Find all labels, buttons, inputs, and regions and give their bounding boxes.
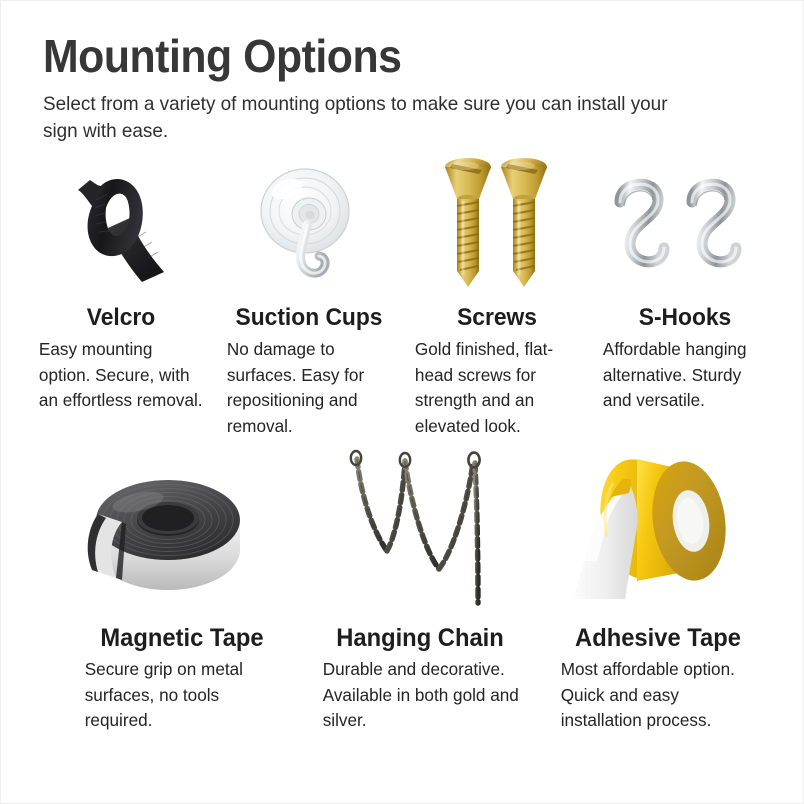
option-card-hanging-chain: Hanging Chain Durable and decorative. Av… — [301, 449, 539, 734]
s-hooks-icon — [610, 164, 760, 289]
option-description: Gold finished, flat-head screws for stre… — [411, 337, 580, 439]
mounting-options-infographic: Mounting Options Select from a variety o… — [0, 0, 804, 804]
magnetic-tape-roll-icon — [82, 454, 282, 604]
option-description: Affordable hanging alternative. Sturdy a… — [599, 337, 768, 414]
option-description: Durable and decorative. Available in bot… — [309, 657, 527, 734]
option-description: No damage to surfaces. Easy for repositi… — [223, 337, 392, 439]
option-title: Hanging Chain — [315, 623, 526, 653]
option-card-magnetic-tape: Magnetic Tape Secure grip on metal surfa… — [63, 449, 301, 734]
velcro-strap-icon — [46, 162, 196, 290]
option-card-screws: Screws Gold finished, flat-head screws f… — [403, 161, 591, 439]
magnetic-tape-media — [71, 449, 293, 609]
page-subtitle: Select from a variety of mounting option… — [43, 91, 703, 145]
option-description: Most affordable option. Quick and easy i… — [547, 657, 765, 734]
velcro-strap-media — [35, 161, 207, 291]
page-title: Mounting Options — [43, 31, 694, 81]
header: Mounting Options Select from a variety o… — [43, 31, 743, 145]
s-hooks-media — [599, 161, 771, 291]
option-card-suction-cups: Suction Cups No damage to surfaces. Easy… — [215, 161, 403, 439]
gold-screws-icon — [432, 161, 562, 291]
option-description: Easy mounting option. Secure, with an ef… — [35, 337, 204, 414]
option-title: Magnetic Tape — [77, 623, 288, 653]
option-title: Suction Cups — [227, 303, 390, 333]
option-title: Screws — [415, 303, 578, 333]
option-card-velcro: Velcro Easy mounting option. Secure, wit… — [27, 161, 215, 439]
adhesive-tape-media — [547, 449, 769, 609]
adhesive-tape-roll-icon — [563, 449, 753, 609]
option-title: Adhesive Tape — [553, 623, 764, 653]
hanging-chain-media — [309, 449, 531, 609]
suction-cup-hook-icon — [239, 161, 379, 291]
option-title: Velcro — [39, 303, 202, 333]
option-card-adhesive-tape: Adhesive Tape Most affordable option. Qu… — [539, 449, 777, 734]
screws-media — [411, 161, 583, 291]
option-description: Secure grip on metal surfaces, no tools … — [71, 657, 289, 734]
options-row-second: Magnetic Tape Secure grip on metal surfa… — [63, 449, 779, 734]
option-title: S-Hooks — [603, 303, 766, 333]
hanging-chain-icon — [335, 447, 505, 612]
option-card-s-hooks: S-Hooks Affordable hanging alternative. … — [591, 161, 779, 439]
options-row-first: Velcro Easy mounting option. Secure, wit… — [27, 161, 779, 439]
suction-cup-media — [223, 161, 395, 291]
